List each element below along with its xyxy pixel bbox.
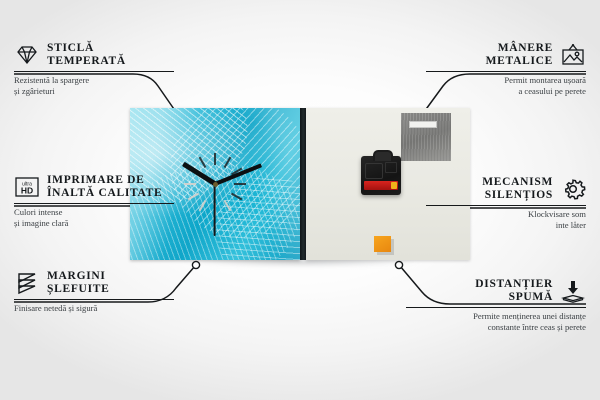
infographic-canvas: STICLĂ TEMPERATĂ Rezistentă la spargere … bbox=[0, 0, 600, 400]
callout-header: STICLĂ TEMPERATĂ bbox=[14, 42, 174, 68]
callout-rule bbox=[426, 71, 586, 72]
callout-title: DISTANȚIER SPUMĂ bbox=[475, 278, 553, 304]
press-down-icon bbox=[560, 279, 586, 303]
diamond-icon bbox=[14, 43, 40, 67]
callout-distantier-spuma: DISTANȚIER SPUMĂ Permite menținerea unei… bbox=[406, 278, 586, 332]
callout-subtitle: Rezistentă la spargere și zgârieturi bbox=[14, 75, 174, 96]
callout-margini-slefuite: MARGINI ȘLEFUITE Finisare netedă și sigu… bbox=[14, 270, 174, 314]
callout-header: MARGINI ȘLEFUITE bbox=[14, 270, 174, 296]
callout-header: DISTANȚIER SPUMĂ bbox=[406, 278, 586, 304]
callout-rule bbox=[426, 205, 586, 206]
callout-rule bbox=[406, 307, 586, 308]
callout-subtitle: Finisare netedă și sigură bbox=[14, 303, 174, 314]
hanger-slot bbox=[409, 121, 437, 128]
callout-mecanism-silentios: MECANISM SILENȚIOS Klockvisare som inte … bbox=[426, 176, 586, 230]
callout-sticla-temperata: STICLĂ TEMPERATĂ Rezistentă la spargere … bbox=[14, 42, 174, 96]
callout-subtitle: Permit montarea ușoară a ceasului pe per… bbox=[426, 75, 586, 96]
callout-header: MÂNERE METALICE bbox=[426, 42, 586, 68]
product-image bbox=[130, 108, 470, 266]
callout-rule bbox=[14, 299, 174, 300]
mechanism-hang-loop bbox=[373, 150, 393, 161]
metal-hanger-plate bbox=[401, 113, 451, 161]
mechanism-detail bbox=[365, 163, 383, 179]
picture-hanger-icon bbox=[560, 43, 586, 67]
mechanism-detail bbox=[385, 162, 397, 173]
polished-edges-icon bbox=[14, 271, 40, 295]
ultra-hd-icon: ultra HD bbox=[14, 175, 40, 199]
callout-rule bbox=[14, 71, 174, 72]
callout-title: MÂNERE METALICE bbox=[486, 42, 553, 68]
callout-imprimare-hd: ultra HD IMPRIMARE DE ÎNALTĂ CALITATE Cu… bbox=[14, 174, 174, 228]
callout-manere-metalice: MÂNERE METALICE Permit montarea ușoară a… bbox=[426, 42, 586, 96]
callout-subtitle: Permite menținerea unei distanțe constan… bbox=[406, 311, 586, 332]
callout-subtitle: Culori intense și imagine clară bbox=[14, 207, 174, 228]
second-hand bbox=[214, 184, 216, 236]
hands-pin bbox=[213, 182, 218, 187]
foam-spacer bbox=[374, 236, 391, 252]
callout-title: MECANISM SILENȚIOS bbox=[482, 176, 553, 202]
quartz-mechanism-box bbox=[361, 156, 401, 195]
callout-title: STICLĂ TEMPERATĂ bbox=[47, 42, 126, 68]
callout-title: IMPRIMARE DE ÎNALTĂ CALITATE bbox=[47, 174, 162, 200]
svg-text:HD: HD bbox=[21, 186, 33, 196]
callout-rule bbox=[14, 203, 174, 204]
callout-title: MARGINI ȘLEFUITE bbox=[47, 270, 109, 296]
callout-header: MECANISM SILENȚIOS bbox=[426, 176, 586, 202]
gear-icon bbox=[560, 177, 586, 201]
callout-subtitle: Klockvisare som inte låter bbox=[426, 209, 586, 230]
battery bbox=[364, 181, 398, 190]
callout-header: ultra HD IMPRIMARE DE ÎNALTĂ CALITATE bbox=[14, 174, 174, 200]
